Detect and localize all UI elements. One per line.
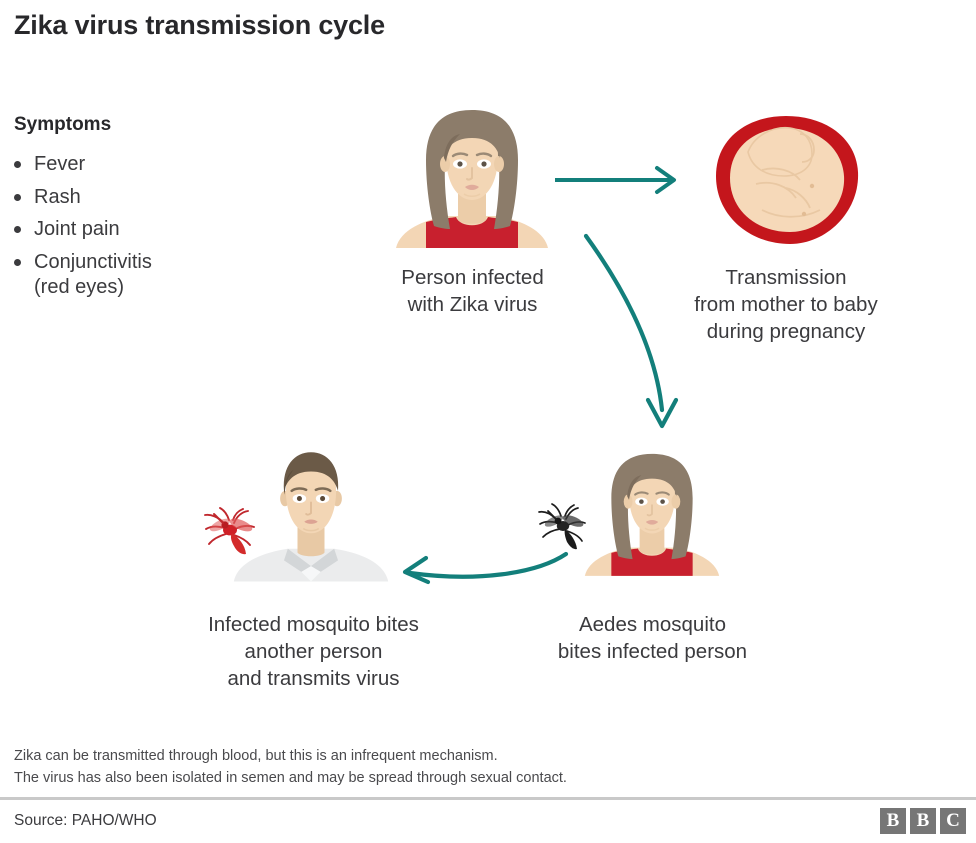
caption-text: Aedes mosquitobites infected person — [558, 613, 747, 663]
bullet-icon — [14, 259, 21, 266]
bitten-woman-figure — [576, 444, 728, 584]
footnote-line: Zika can be transmitted through blood, b… — [14, 745, 567, 767]
symptom-label: Rash — [34, 185, 81, 211]
symptoms-panel: Symptoms Fever Rash Joint pain Conjuncti… — [14, 114, 264, 308]
footer-divider — [0, 797, 976, 800]
infected-woman-figure — [386, 108, 558, 248]
caption-infected-person: Person infectedwith Zika virus — [340, 264, 605, 318]
bullet-icon — [14, 194, 21, 201]
footnotes: Zika can be transmitted through blood, b… — [14, 745, 567, 789]
footnote-line: The virus has also been isolated in seme… — [14, 767, 567, 789]
bbc-logo-letter: C — [940, 808, 966, 834]
symptom-label: Joint pain — [34, 217, 120, 243]
caption-mosquito-bites-another: Infected mosquito bitesanother personand… — [176, 611, 451, 692]
symptom-label: Conjunctivitis(red eyes) — [34, 250, 152, 301]
caption-text: Infected mosquito bitesanother personand… — [208, 613, 419, 690]
arrow-mosquito-to-another-person — [396, 548, 571, 590]
list-item: Fever — [14, 152, 264, 178]
caption-mosquito-bites-infected: Aedes mosquitobites infected person — [520, 611, 785, 665]
bbc-logo-letter: B — [910, 808, 936, 834]
symptom-label: Fever — [34, 152, 85, 178]
list-item: Conjunctivitis(red eyes) — [14, 250, 264, 301]
list-item: Joint pain — [14, 217, 264, 243]
list-item: Rash — [14, 185, 264, 211]
caption-text: Person infectedwith Zika virus — [401, 266, 543, 316]
caption-text: Transmissionfrom mother to babyduring pr… — [694, 266, 877, 343]
infographic-root: Zika virus transmission cycle Symptoms F… — [0, 0, 976, 843]
bullet-icon — [14, 161, 21, 168]
arrow-person-to-pregnancy — [555, 163, 685, 197]
page-title: Zika virus transmission cycle — [14, 10, 385, 41]
arrow-person-to-mosquito-bite — [582, 232, 702, 442]
bbc-logo-letter: B — [880, 808, 906, 834]
symptoms-heading: Symptoms — [14, 114, 264, 136]
fetus-icon — [700, 110, 868, 255]
bullet-icon — [14, 226, 21, 233]
red-mosquito-icon — [200, 505, 262, 563]
bbc-logo: B B C — [880, 808, 966, 834]
source-label: Source: PAHO/WHO — [14, 812, 157, 830]
